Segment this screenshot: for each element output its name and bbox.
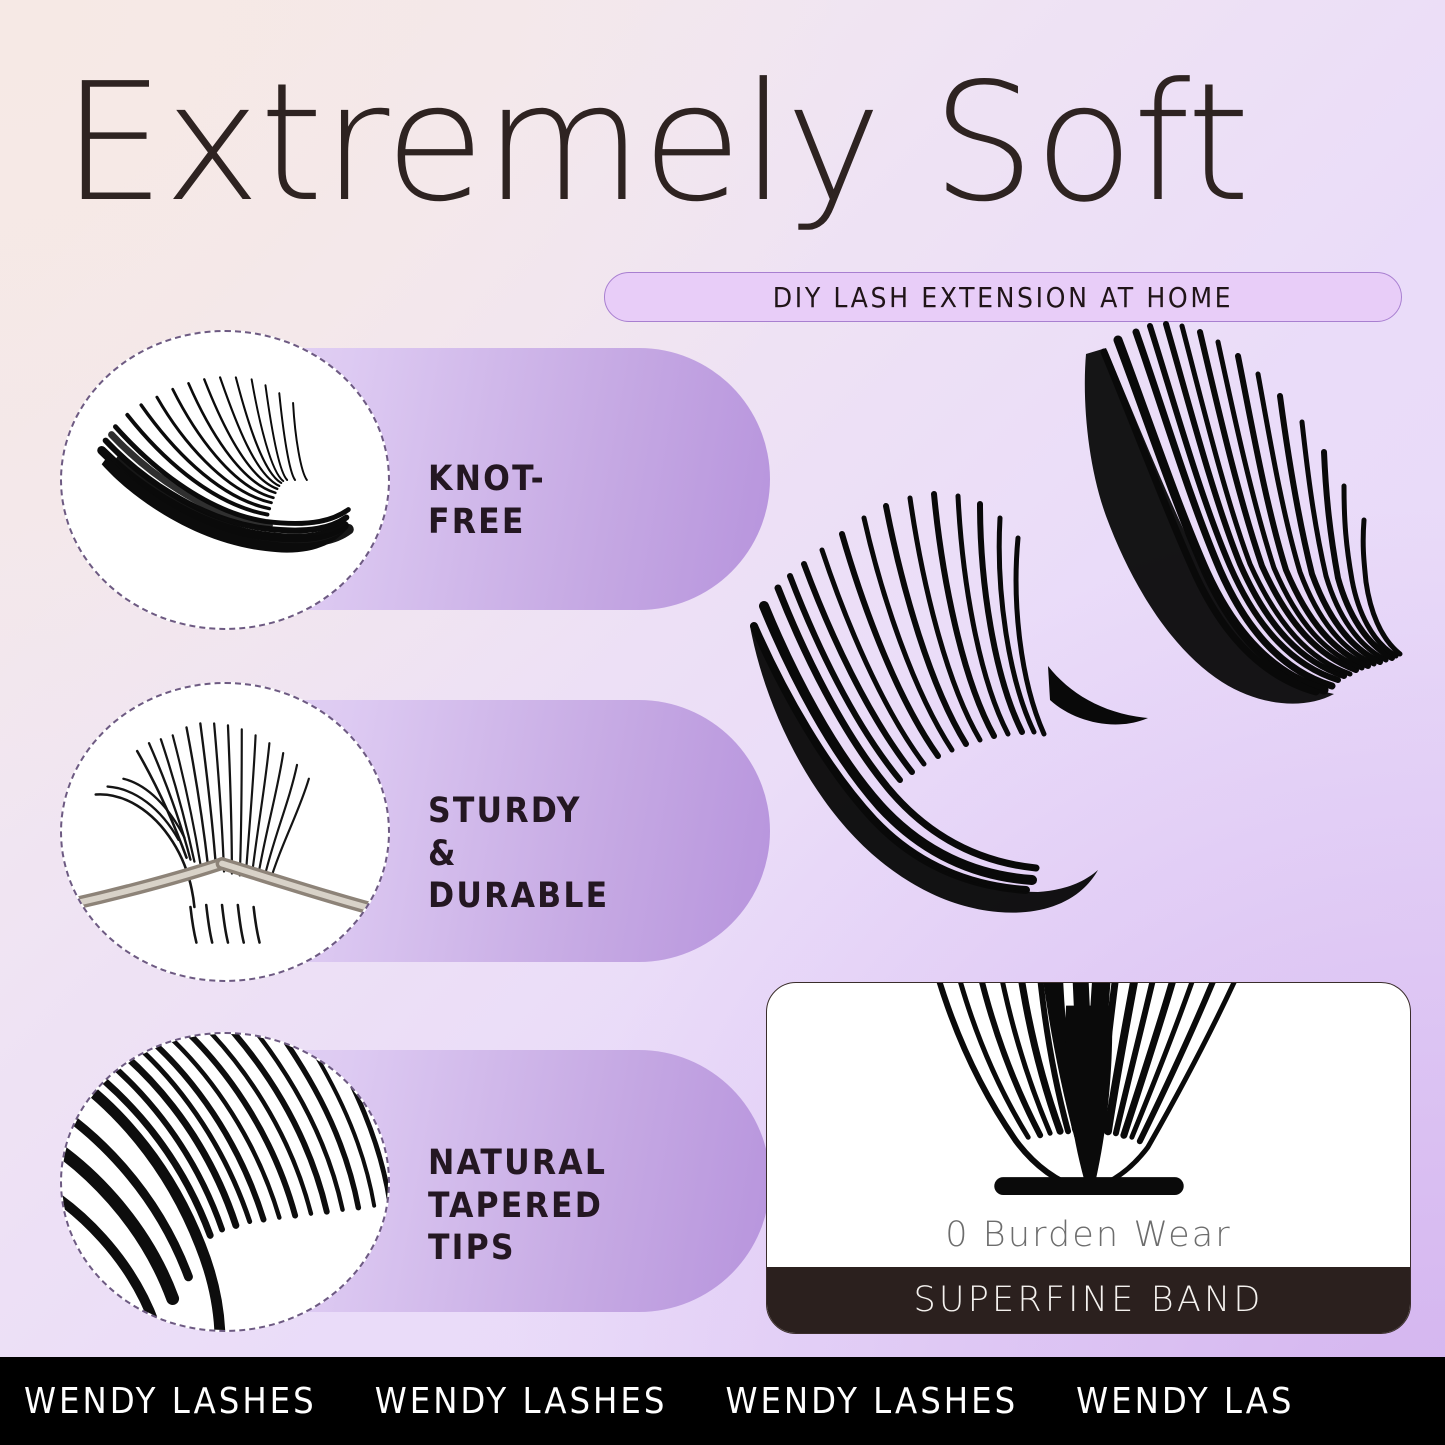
lash-cluster-curl-icon xyxy=(60,330,390,630)
lash-cluster-tweezer-icon xyxy=(60,682,390,982)
superfine-band-card: 0 Burden Wear SUPERFINE BAND xyxy=(766,982,1411,1334)
card-footer-bar: SUPERFINE BAND xyxy=(767,1267,1410,1333)
watermark-strip: WENDY LASHES WENDY LASHES WENDY LASHES W… xyxy=(0,1357,1445,1445)
two-lash-clusters-icon xyxy=(718,320,1445,960)
feature-label: KNOT-FREE xyxy=(428,458,546,543)
watermark-text: WENDY LAS xyxy=(1076,1381,1294,1422)
card-caption: 0 Burden Wear xyxy=(767,1215,1410,1267)
poster-canvas: Extremely Soft DIY LASH EXTENSION AT HOM… xyxy=(0,0,1445,1445)
lash-tapered-fibers-icon xyxy=(60,1032,390,1332)
watermark-text: WENDY LASHES xyxy=(24,1381,317,1422)
feature-label: NATURAL TAPERED TIPS xyxy=(428,1142,607,1270)
badge-diy-lash-extension: DIY LASH EXTENSION AT HOME xyxy=(604,272,1402,322)
watermark-text: WENDY LASHES xyxy=(725,1381,1018,1422)
badge-label: DIY LASH EXTENSION AT HOME xyxy=(773,281,1233,314)
watermark-text: WENDY LASHES xyxy=(375,1381,668,1422)
feature-label: STURDY & DURABLE xyxy=(428,790,609,918)
lash-band-closeup-icon xyxy=(767,983,1410,1215)
card-footer-label: SUPERFINE BAND xyxy=(913,1280,1263,1320)
page-title: Extremely Soft xyxy=(62,62,1402,225)
